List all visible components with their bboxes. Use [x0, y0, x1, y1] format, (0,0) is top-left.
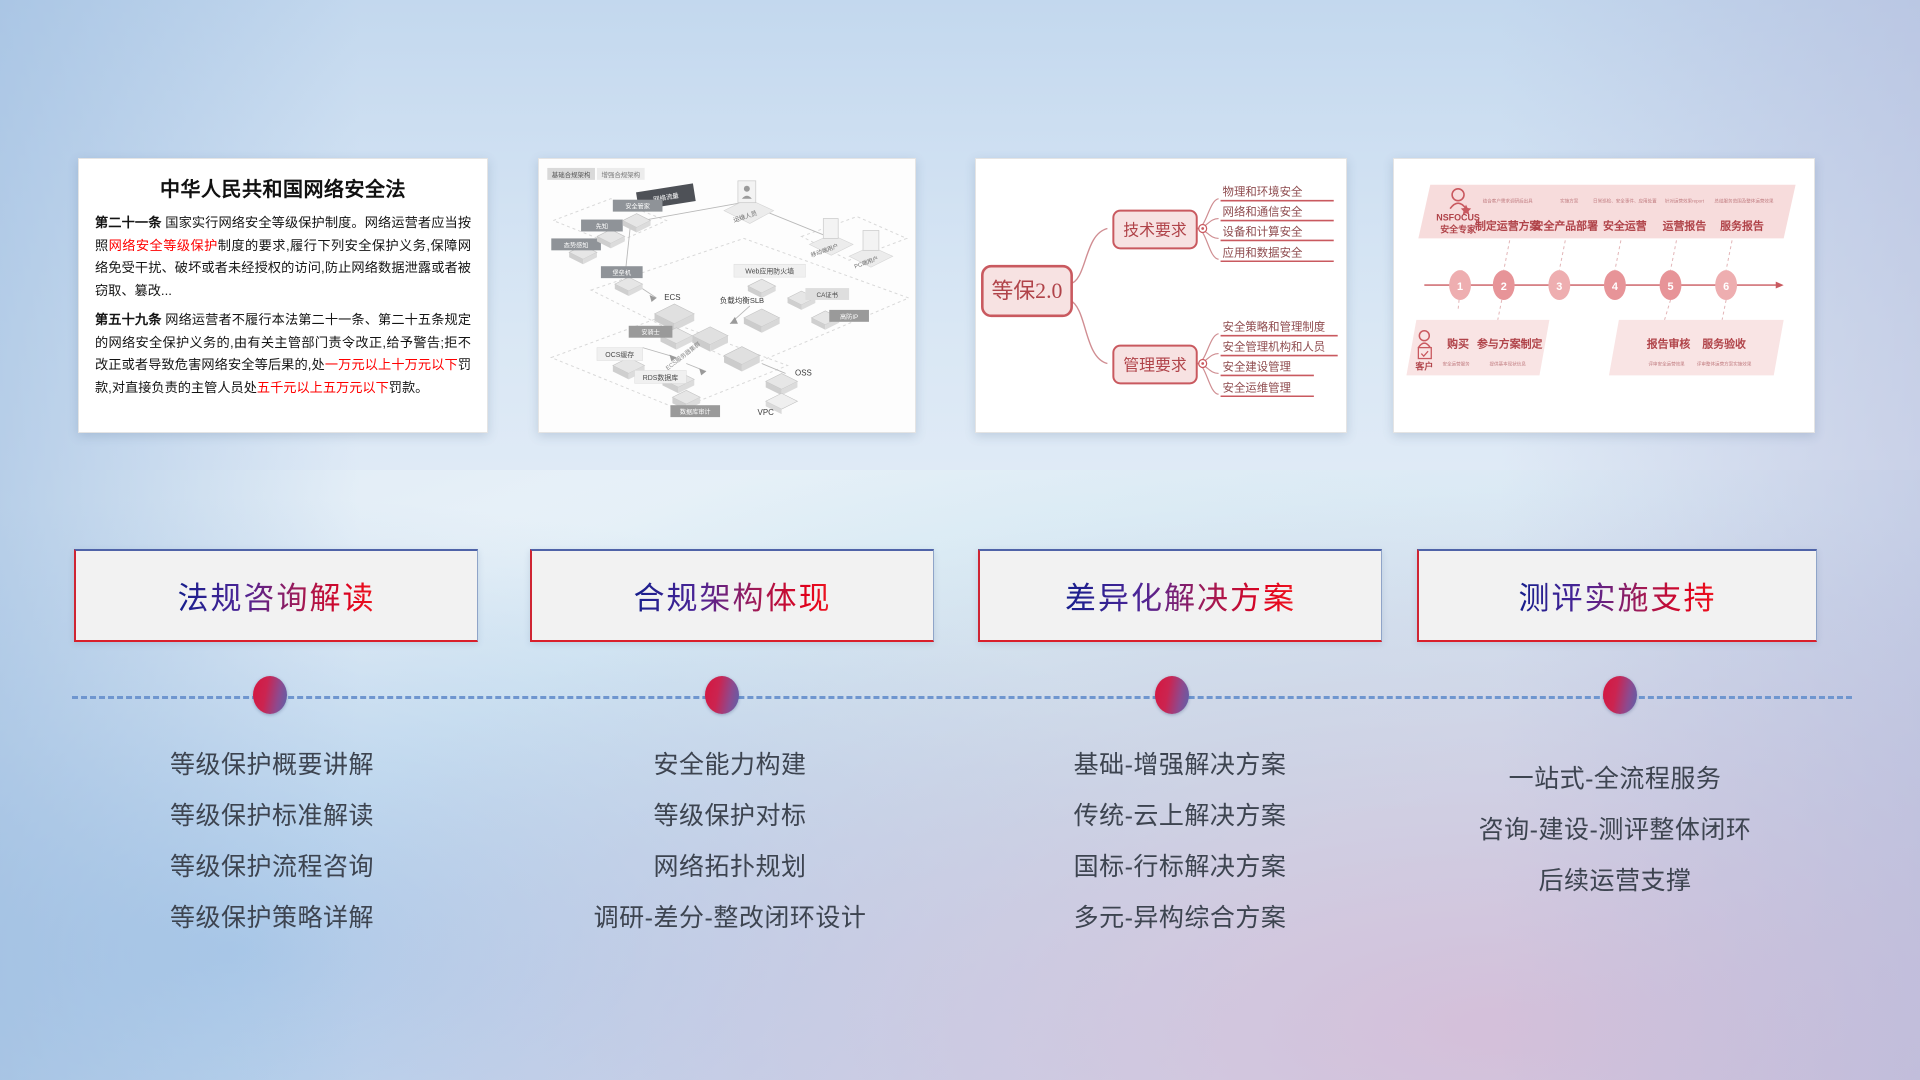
list-item: 咨询-建设-测评整体闭环 — [1410, 805, 1820, 856]
mindmap-branch-1-item-2: 安全建设管理 — [1223, 359, 1292, 373]
title-box-compliance-architecture[interactable]: 合规架构体现 — [530, 549, 934, 642]
flow-bottom-item-3-title: 服务验收 — [1702, 337, 1746, 351]
flow-bottom-item-1-title: 参与方案制定 — [1477, 337, 1543, 351]
feature-column-2: 基础-增强解决方案 传统-云上解决方案 国标-行标解决方案 多元-异构综合方案 — [978, 740, 1382, 944]
arch-node-11: 负载均衡SLB — [720, 295, 764, 305]
arch-node-15: RDS数据库 — [643, 373, 679, 382]
arch-node-2: 安全管家 — [625, 203, 650, 211]
feature-list-row: 等级保护概要讲解 等级保护标准解读 等级保护流程咨询 等级保护策略详解 安全能力… — [0, 740, 1920, 970]
mindmap-branch-0-item-2: 设备和计算安全 — [1223, 224, 1303, 238]
flow-top-item-3-title: 运营报告 — [1663, 218, 1707, 232]
title-box-row: 法规咨询解读 合规架构体现 差异化解决方案 测评实施支持 — [0, 549, 1920, 644]
timeline-dot-3[interactable] — [1603, 676, 1637, 714]
arch-node-9: 高防IP — [840, 313, 858, 321]
list-item: 国标-行标解决方案 — [978, 842, 1382, 893]
mindmap-branch-1-item-1: 安全管理机构和人员 — [1223, 340, 1326, 354]
flow-step-3: 4 — [1612, 281, 1618, 293]
card-cybersecurity-law[interactable]: 中华人民共和国网络安全法 第二十一条 国家实行网络安全等级保护制度。网络运营者应… — [78, 158, 488, 433]
card-cloud-architecture[interactable]: 基础合规架构 增强合规架构 — [538, 158, 916, 433]
mindmap-branch-0-item-3: 应用和数据安全 — [1223, 245, 1303, 259]
card-operation-timeline[interactable]: NSFOCUS 安全专家 制定运营方案 结合客户需求调研后出具 安全产品部署 实… — [1393, 158, 1815, 433]
flow-top-item-3-note: 针对运营效果report — [1665, 198, 1705, 205]
list-item: 后续运营支撑 — [1410, 856, 1820, 907]
flow-step-1: 2 — [1501, 281, 1507, 293]
flow-bottom-item-2-title: 报告审核 — [1647, 337, 1691, 351]
flow-top-actor-sub: 安全专家 — [1440, 223, 1476, 234]
list-item: 传统-云上解决方案 — [978, 791, 1382, 842]
operation-timeline-diagram: NSFOCUS 安全专家 制定运营方案 结合客户需求调研后出具 安全产品部署 实… — [1394, 159, 1814, 432]
flow-step-2: 3 — [1556, 281, 1562, 293]
mindmap-branch-1-item-0: 安全策略和管理制度 — [1223, 320, 1326, 334]
arch-node-5: Web应用防火墙 — [745, 267, 794, 276]
arch-node-16: 数据库审计 — [680, 408, 711, 416]
flow-bottom-item-0-title: 购买 — [1447, 337, 1469, 351]
flow-bottom-actor-name: 客户 — [1414, 360, 1433, 371]
flow-top-item-2-title: 安全运营 — [1603, 218, 1647, 232]
list-item: 多元-异构综合方案 — [978, 893, 1382, 944]
arch-node-3: 堡垒机 — [613, 269, 631, 277]
feature-column-3: 一站式-全流程服务 咨询-建设-测评整体闭环 后续运营支撑 — [1410, 740, 1820, 907]
timeline-dot-0[interactable] — [253, 676, 287, 714]
list-item: 等级保护流程咨询 — [72, 842, 472, 893]
title-box-assessment-support[interactable]: 测评实施支持 — [1417, 549, 1817, 642]
list-item: 等级保护概要讲解 — [72, 740, 472, 791]
flow-bottom-item-3-note: 评审整体运营方案实施效果 — [1697, 360, 1752, 367]
arch-node-8: CA证书 — [817, 290, 839, 299]
timeline-dot-2[interactable] — [1155, 676, 1189, 714]
flow-step-5: 6 — [1723, 281, 1729, 293]
list-item: 一站式-全流程服务 — [1410, 754, 1820, 805]
architecture-diagram: 基础合规架构 增强合规架构 — [539, 159, 915, 432]
list-item: 安全能力构建 — [528, 740, 932, 791]
arch-node-10: ECS — [664, 293, 680, 302]
title-box-differentiated-solution[interactable]: 差异化解决方案 — [978, 549, 1382, 642]
mindmap-branch-0-item-0: 物理和环境安全 — [1223, 185, 1303, 199]
law-seg-59-1-highlight: 一万元以上十万元以下 — [325, 357, 458, 372]
mindmap-branch-1-item-3: 安全运维管理 — [1223, 380, 1292, 394]
flow-top-item-4-note: 总结服务范围及整体运营效果 — [1714, 198, 1774, 205]
feature-column-1: 安全能力构建 等级保护对标 网络拓扑规划 调研-差分-整改闭环设计 — [528, 740, 932, 944]
flow-top-item-0-title: 制定运营方案 — [1475, 218, 1542, 232]
arch-node-0: 态势感知 — [564, 241, 589, 249]
flow-step-0: 1 — [1457, 281, 1463, 293]
law-seg-59-3-highlight: 五千元以上五万元以下 — [257, 380, 389, 395]
law-seg-21-1-highlight: 网络安全等级保护 — [109, 238, 218, 253]
flow-step-4: 5 — [1667, 281, 1673, 293]
arch-node-18: VPC — [758, 408, 775, 417]
arch-node-14: OCS缓存 — [605, 350, 634, 359]
arch-node-17: OSS — [795, 368, 812, 377]
card-row: 中华人民共和国网络安全法 第二十一条 国家实行网络安全等级保护制度。网络运营者应… — [0, 150, 1920, 435]
mindmap-branch-0-label: 技术要求 — [1123, 221, 1187, 239]
mindmap-branch-1-label: 管理要求 — [1123, 356, 1187, 374]
timeline-axis — [72, 696, 1852, 699]
arch-tab-1: 增强合规架构 — [601, 170, 640, 179]
mindmap-branch-0-item-1: 网络和通信安全 — [1223, 205, 1303, 219]
list-item: 等级保护策略详解 — [72, 893, 472, 944]
law-card-title: 中华人民共和国网络安全法 — [95, 173, 471, 202]
flow-bottom-item-1-note: 提供基本现状信息 — [1490, 360, 1527, 367]
arch-node-1: 先知 — [596, 222, 608, 230]
list-item: 网络拓扑规划 — [528, 842, 932, 893]
flow-bottom-item-2-note: 评审安全运营效果 — [1648, 360, 1685, 367]
title-label-2: 差异化解决方案 — [1065, 573, 1296, 618]
law-paragraph-21: 第二十一条 国家实行网络安全等级保护制度。网络运营者应当按照网络安全等级保护制度… — [95, 212, 471, 303]
title-label-1: 合规架构体现 — [634, 573, 832, 618]
card-mindmap-dengbao[interactable]: 等保2.0 技术要求 物理和环境安全 网络和通信安全 设备和计算安全 应用和数据… — [975, 158, 1347, 433]
list-item: 等级保护标准解读 — [72, 791, 472, 842]
title-box-regulation-consulting[interactable]: 法规咨询解读 — [74, 549, 478, 642]
law-article-number-59: 第五十九条 — [95, 312, 162, 327]
list-item: 调研-差分-整改闭环设计 — [528, 893, 932, 944]
arch-node-12: 安骑士 — [641, 329, 659, 337]
flow-top-actor-name: NSFOCUS — [1436, 213, 1480, 223]
list-item: 基础-增强解决方案 — [978, 740, 1382, 791]
title-label-3: 测评实施支持 — [1519, 573, 1717, 618]
flow-top-item-1-title: 安全产品部署 — [1533, 218, 1599, 232]
arch-tab-0: 基础合规架构 — [552, 170, 591, 179]
flow-top-item-4-title: 服务报告 — [1720, 218, 1764, 232]
flow-top-item-1-note: 实施方案 — [1560, 198, 1579, 205]
law-paragraph-59: 第五十九条 网络运营者不履行本法第二十一条、第二十五条规定的网络安全保护义务的,… — [95, 309, 471, 400]
flow-bottom-item-0-note: 安全运营服务 — [1442, 360, 1470, 367]
flow-top-item-0-note: 结合客户需求调研后出具 — [1483, 198, 1533, 205]
flow-top-item-2-note: 日常巡检、安全事件、应用处置 — [1593, 198, 1657, 205]
law-article-number-21: 第二十一条 — [95, 215, 162, 230]
list-item: 等级保护对标 — [528, 791, 932, 842]
mindmap-diagram: 等保2.0 技术要求 物理和环境安全 网络和通信安全 设备和计算安全 应用和数据… — [976, 159, 1346, 432]
mindmap-root-label: 等保2.0 — [992, 279, 1063, 303]
timeline-dot-1[interactable] — [705, 676, 739, 714]
title-label-0: 法规咨询解读 — [178, 573, 376, 618]
law-seg-59-4: 罚款。 — [389, 380, 429, 395]
feature-column-0: 等级保护概要讲解 等级保护标准解读 等级保护流程咨询 等级保护策略详解 — [72, 740, 472, 944]
